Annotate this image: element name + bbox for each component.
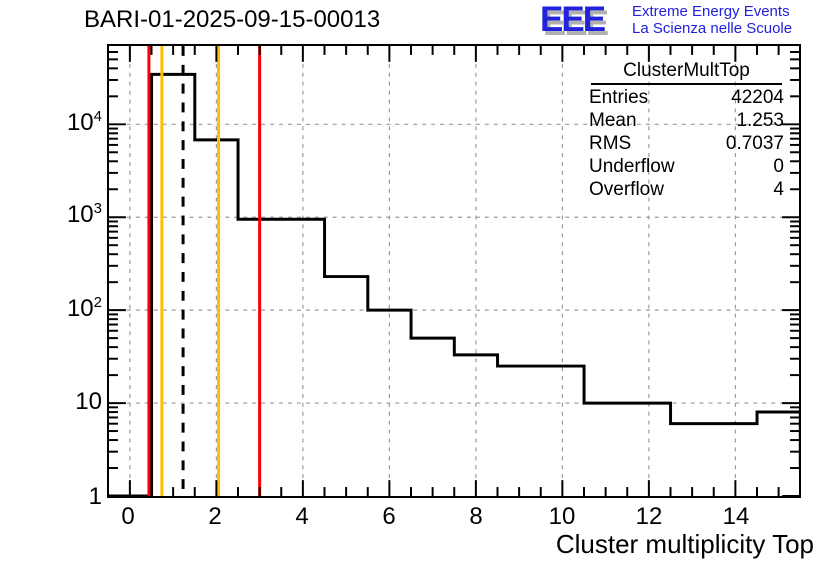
y-tick-label-2: 102 — [67, 294, 102, 323]
eee-logo-line1: Extreme Energy Events — [632, 3, 790, 20]
stats-row: Overflow4 — [585, 178, 788, 201]
y-tick-label-1: 103 — [67, 200, 102, 229]
y-tick-label-0: 104 — [67, 108, 102, 137]
x-tick-label-1: 2 — [185, 503, 245, 531]
x-tick-label-6: 12 — [619, 503, 679, 531]
stats-row: Underflow0 — [585, 155, 788, 178]
stats-row: Entries42204 — [585, 86, 788, 109]
stats-value: 42204 — [731, 86, 784, 109]
stats-row: RMS0.7037 — [585, 132, 788, 155]
y-tick-label-3: 10 — [75, 388, 102, 416]
eee-logo: EEE Extreme Energy Events La Scienza nel… — [540, 2, 832, 40]
page-title: BARI-01-2025-09-15-00013 — [84, 6, 380, 34]
stats-label: Underflow — [589, 155, 675, 178]
stats-label: Overflow — [589, 178, 664, 201]
stats-value: 4 — [773, 178, 784, 201]
stats-value: 1.253 — [736, 109, 784, 132]
x-tick-label-5: 10 — [532, 503, 592, 531]
plot-canvas: BARI-01-2025-09-15-00013 EEE Extreme Ene… — [0, 0, 836, 572]
x-tick-label-0: 0 — [98, 503, 158, 531]
stats-value: 0 — [773, 155, 784, 178]
x-tick-label-4: 8 — [446, 503, 506, 531]
stats-label: RMS — [589, 132, 631, 155]
stats-label: Entries — [589, 86, 648, 109]
eee-logo-line2: La Scienza nelle Scuole — [632, 20, 792, 37]
x-tick-label-3: 6 — [359, 503, 419, 531]
stats-label: Mean — [589, 109, 637, 132]
x-tick-label-7: 14 — [706, 503, 766, 531]
x-tick-label-2: 4 — [272, 503, 332, 531]
stats-value: 0.7037 — [726, 132, 784, 155]
eee-logo-mark: EEE — [540, 2, 604, 37]
stats-rows: Entries42204Mean1.253RMS0.7037Underflow0… — [585, 86, 788, 201]
x-axis-title: Cluster multiplicity Top — [556, 529, 814, 560]
stats-box: ClusterMultTop Entries42204Mean1.253RMS0… — [585, 60, 788, 201]
stats-row: Mean1.253 — [585, 109, 788, 132]
stats-title: ClusterMultTop — [591, 60, 782, 85]
